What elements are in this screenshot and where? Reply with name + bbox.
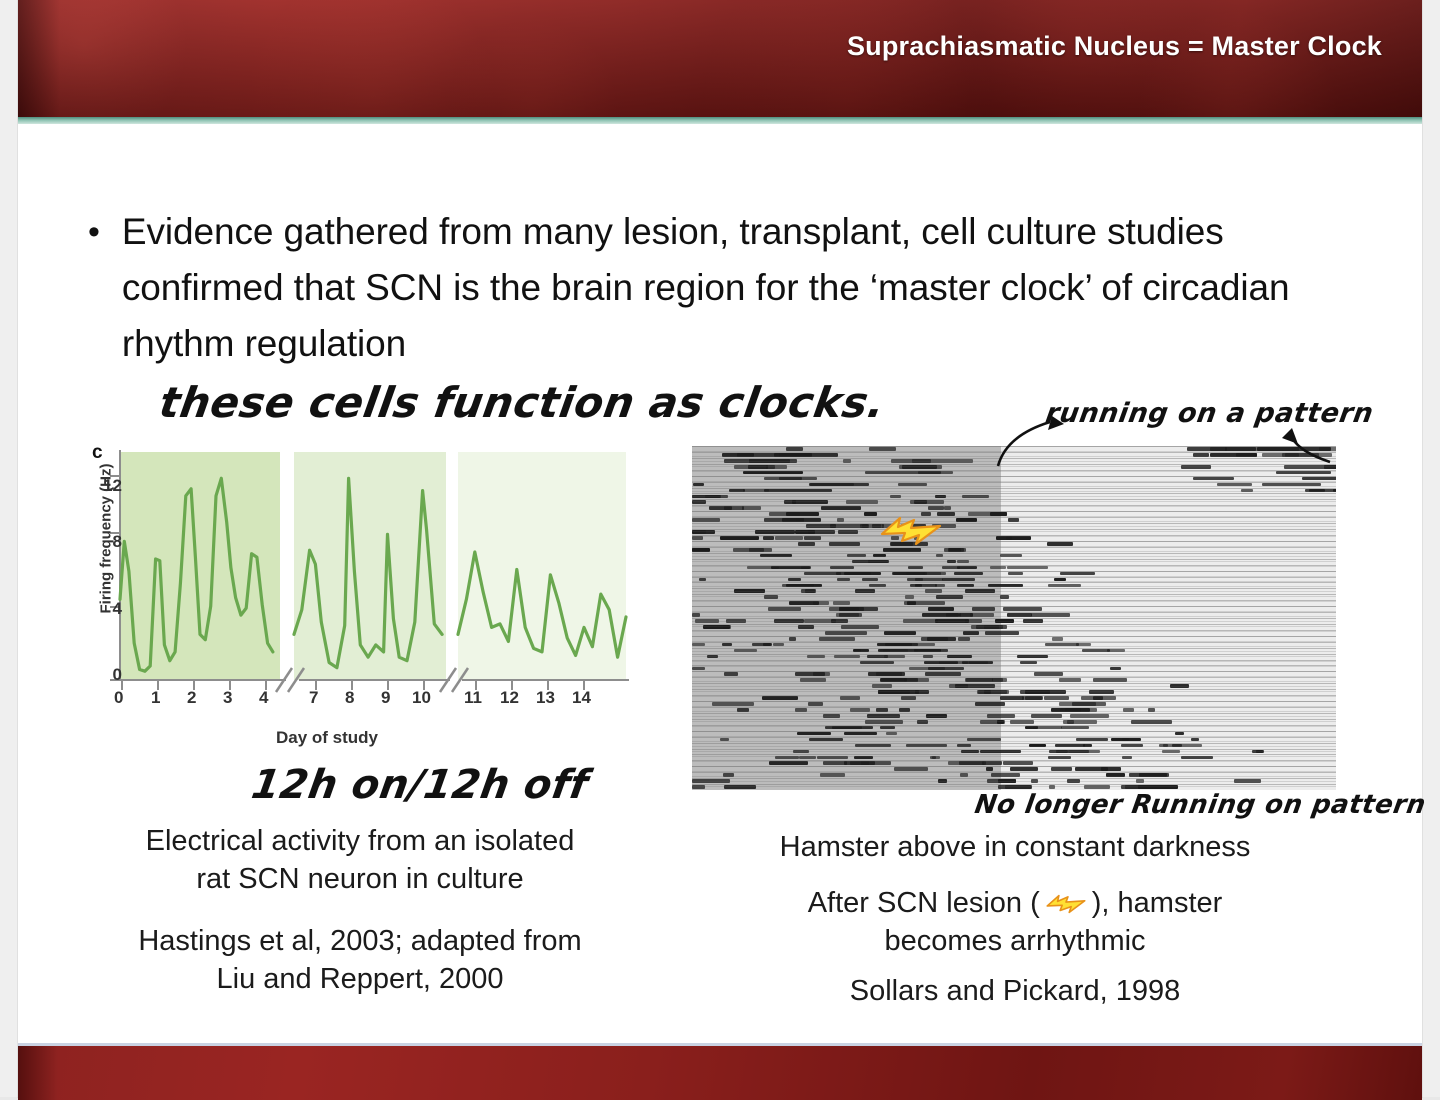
chart-x-tick-9: 9	[381, 688, 390, 708]
chart-y-tick-4: 4	[92, 599, 122, 619]
left-citation-line-1: Hastings et al, 2003; adapted from	[40, 922, 680, 960]
chart-x-tick-12: 12	[500, 688, 519, 708]
banner-accent-line	[18, 117, 1422, 124]
page-title: Suprachiasmatic Nucleus = Master Clock	[847, 31, 1382, 62]
bullet-block: • Evidence gathered from many lesion, tr…	[88, 204, 1358, 372]
left-figure-caption: Electrical activity from an isolated rat…	[40, 822, 680, 898]
footer-left-shadow	[18, 1046, 58, 1100]
handwritten-note-main: these cells function as clocks.	[156, 378, 888, 427]
handwritten-note-running-pattern: running on a pattern	[1044, 398, 1376, 429]
chart-y-tick-0: 0	[92, 665, 122, 685]
chart-x-axis-label: Day of study	[276, 728, 378, 748]
left-citation-line-2: Liu and Reppert, 2000	[40, 960, 680, 998]
chart-y-tick-8: 8	[92, 532, 122, 552]
chart-x-tick-3: 3	[223, 688, 232, 708]
chart-x-tick-0: 0	[114, 688, 123, 708]
left-caption-line-2: rat SCN neuron in culture	[40, 860, 680, 898]
chart-x-tick-13: 13	[536, 688, 555, 708]
right-caption-2-after: ), hamster	[1092, 887, 1223, 919]
chart-x-tick-8: 8	[345, 688, 354, 708]
right-caption-2-before: After SCN lesion (	[808, 887, 1040, 919]
bullet-text: Evidence gathered from many lesion, tran…	[122, 204, 1358, 372]
right-figure-caption-1: Hamster above in constant darkness	[690, 828, 1340, 866]
right-figure-citation: Sollars and Pickard, 1998	[690, 972, 1340, 1010]
chart-x-tick-2: 2	[187, 688, 196, 708]
handwritten-note-light-cycle: 12h on/12h off	[248, 762, 591, 808]
chart-y-tick-12: 12	[92, 476, 122, 496]
right-figure-caption-2: After SCN lesion (), hamster becomes arr…	[690, 884, 1340, 960]
chart-x-tick-1: 1	[151, 688, 160, 708]
left-caption-line-1: Electrical activity from an isolated	[40, 822, 680, 860]
chart-x-tick-11: 11	[464, 688, 482, 708]
slide-root: Suprachiasmatic Nucleus = Master Clock •…	[0, 0, 1440, 1097]
title-banner: Suprachiasmatic Nucleus = Master Clock	[18, 0, 1422, 117]
bullet-marker-icon: •	[88, 204, 100, 260]
right-caption-line-3: becomes arrhythmic	[690, 922, 1340, 960]
footer-banner	[18, 1043, 1422, 1100]
lesion-bolt-inline-icon	[1042, 893, 1090, 915]
handwritten-note-no-longer-pattern: No longer Running on pattern	[973, 790, 1428, 820]
chart-x-tick-4: 4	[259, 688, 268, 708]
chart-band-1	[120, 452, 280, 680]
chart-x-tick-7: 7	[309, 688, 318, 708]
chart-x-tick-14: 14	[572, 688, 591, 708]
chart-x-tick-10: 10	[412, 688, 431, 708]
firing-frequency-chart: c Firing frequency (Hz) 12 8 4 0	[44, 440, 664, 750]
lesion-bolt-icon	[880, 514, 942, 548]
left-figure-citation: Hastings et al, 2003; adapted from Liu a…	[40, 922, 680, 998]
